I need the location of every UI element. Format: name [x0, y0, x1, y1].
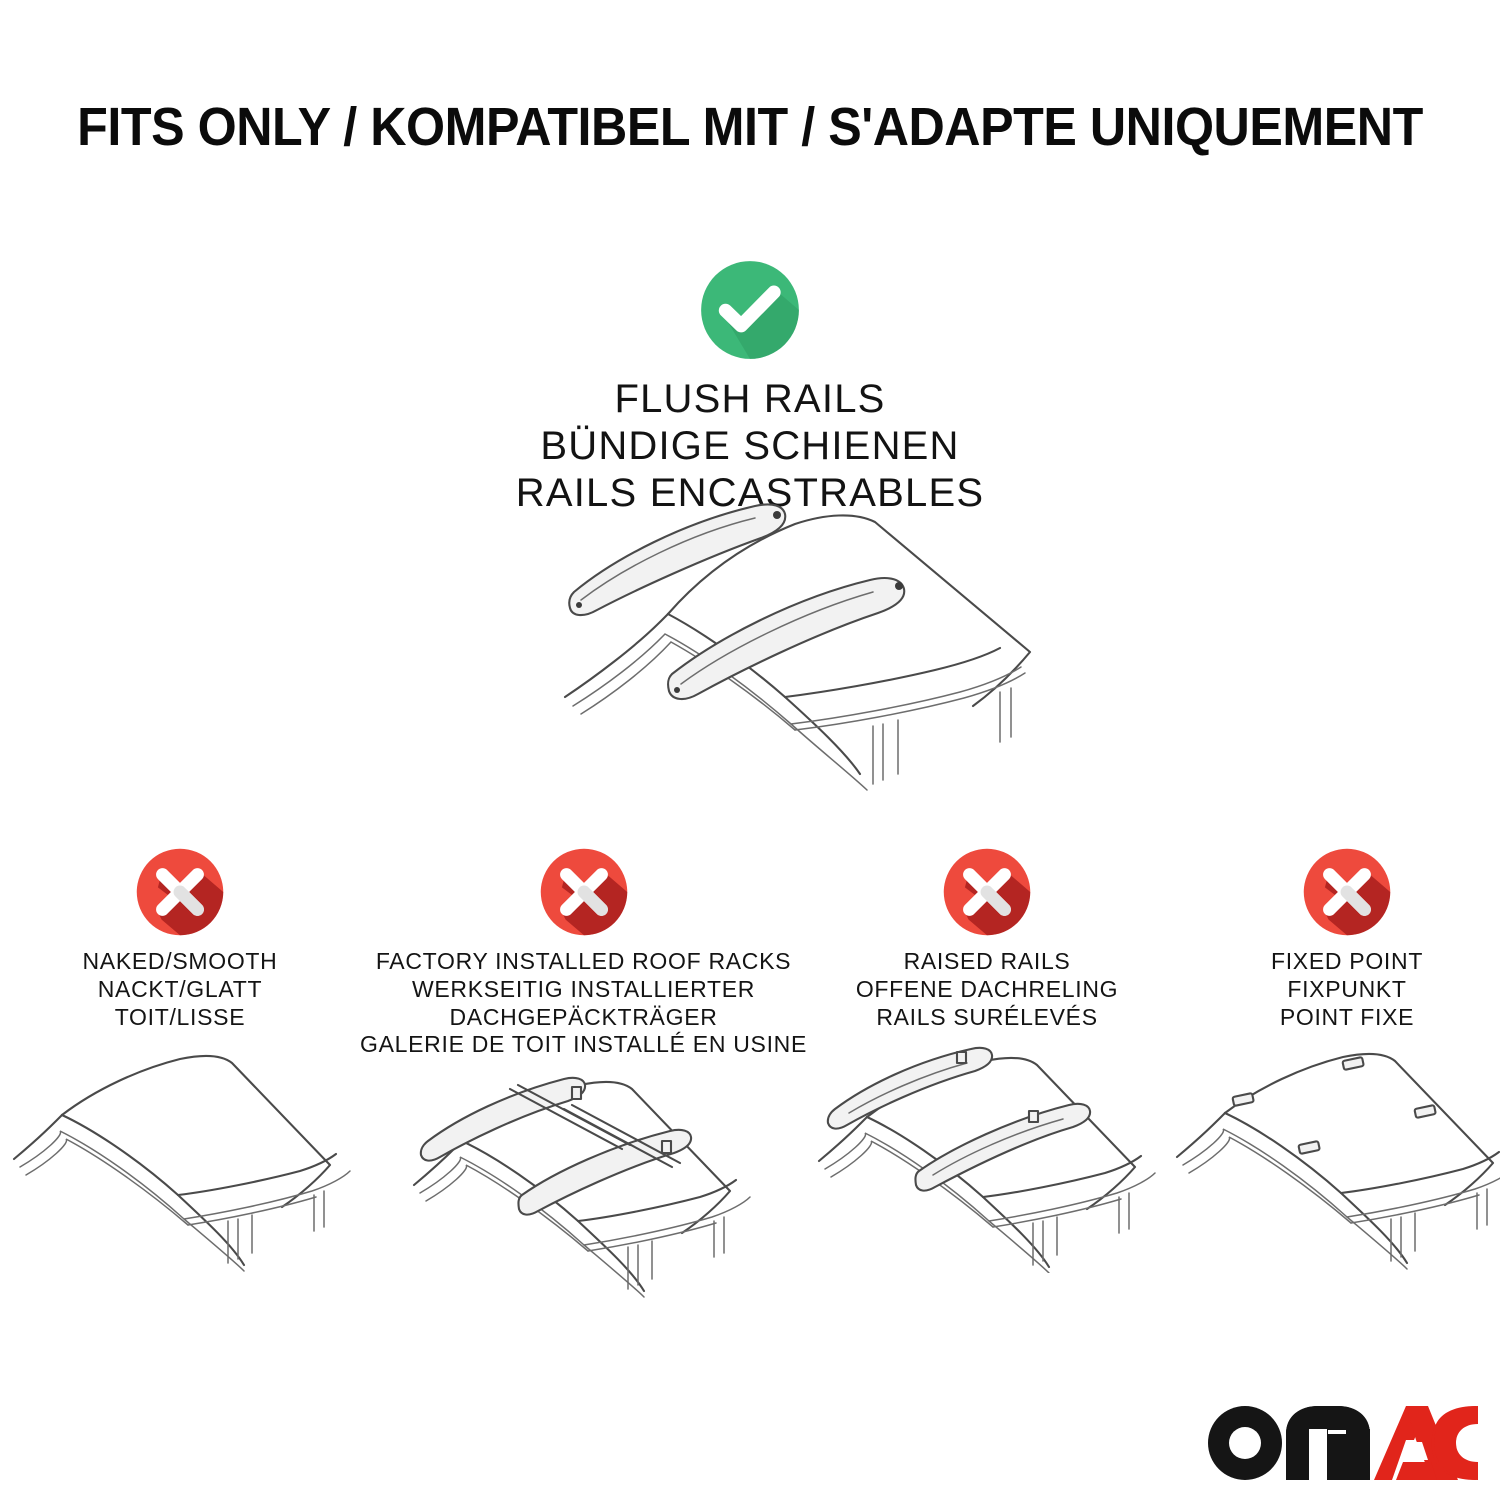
compatible-label-line-1: FLUSH RAILS	[0, 376, 1500, 423]
logo-letter-o	[1208, 1406, 1282, 1480]
label-line-2: OFFENE DACHRELING	[856, 976, 1118, 1004]
label-line-1: RAISED RAILS	[856, 948, 1118, 976]
label-line-3: DACHGEPÄCKTRÄGER	[360, 1004, 807, 1032]
label-line-3: RAILS SURÉLEVÉS	[856, 1004, 1118, 1032]
incompatible-item-raised-rails: RAISED RAILS OFFENE DACHRELING RAILS SUR…	[807, 846, 1167, 1301]
label-line-3: TOIT/LISSE	[83, 1004, 278, 1032]
car-roof-with-flush-rails-illustration	[455, 492, 1055, 792]
label-line-2: NACKT/GLATT	[83, 976, 278, 1004]
incompatible-label-fixed-point: FIXED POINT FIXPUNKT POINT FIXE	[1271, 948, 1423, 1031]
incompatible-item-fixed-point: FIXED POINT FIXPUNKT POINT FIXE	[1167, 846, 1500, 1301]
incompatible-label-factory-roof-racks: FACTORY INSTALLED ROOF RACKS WERKSEITIG …	[360, 948, 807, 1059]
label-line-3: POINT FIXE	[1271, 1004, 1423, 1032]
check-circle-icon	[698, 258, 802, 362]
label-line-1: NAKED/SMOOTH	[83, 948, 278, 976]
car-roof-factory-installed-roof-racks-illustration	[398, 1071, 770, 1301]
compatible-label-line-2: BÜNDIGE SCHIENEN	[0, 423, 1500, 470]
label-line-4: GALERIE DE TOIT INSTALLÉ EN USINE	[360, 1031, 807, 1059]
incompatible-item-factory-roof-racks: FACTORY INSTALLED ROOF RACKS WERKSEITIG …	[360, 846, 807, 1301]
label-line-2: WERKSEITIG INSTALLIERTER	[360, 976, 807, 1004]
x-circle-icon	[941, 846, 1033, 938]
x-circle-icon	[134, 846, 226, 938]
label-line-1: FIXED POINT	[1271, 948, 1423, 976]
label-line-2: FIXPUNKT	[1271, 976, 1423, 1004]
car-roof-naked-smooth-illustration	[0, 1043, 360, 1273]
x-circle-icon	[538, 846, 630, 938]
incompatible-section: NAKED/SMOOTH NACKT/GLATT TOIT/LISSE	[0, 846, 1500, 1301]
label-line-1: FACTORY INSTALLED ROOF RACKS	[360, 948, 807, 976]
incompatible-item-naked-smooth: NAKED/SMOOTH NACKT/GLATT TOIT/LISSE	[0, 846, 360, 1301]
omac-logo	[1206, 1404, 1478, 1482]
logo-letter-m	[1286, 1406, 1370, 1480]
car-roof-fixed-point-illustration	[1167, 1043, 1500, 1273]
incompatible-label-naked-smooth: NAKED/SMOOTH NACKT/GLATT TOIT/LISSE	[83, 948, 278, 1031]
car-roof-raised-rails-illustration	[807, 1043, 1167, 1273]
page-title: FITS ONLY / KOMPATIBEL MIT / S'ADAPTE UN…	[53, 96, 1448, 158]
compatible-section: FLUSH RAILS BÜNDIGE SCHIENEN RAILS ENCAS…	[0, 258, 1500, 516]
x-circle-icon	[1301, 846, 1393, 938]
incompatible-label-raised-rails: RAISED RAILS OFFENE DACHRELING RAILS SUR…	[856, 948, 1118, 1031]
